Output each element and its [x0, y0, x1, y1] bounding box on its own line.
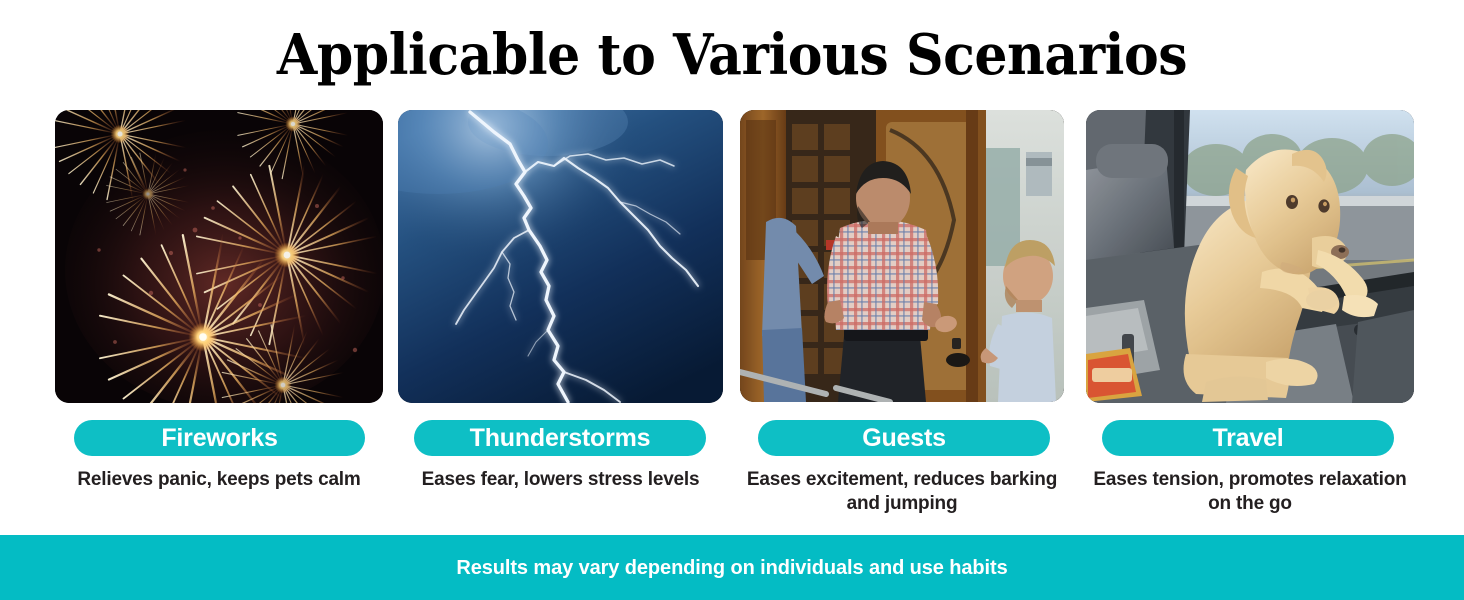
travel-photo	[1086, 110, 1414, 403]
guests-photo	[740, 110, 1064, 402]
label-pill-thunderstorms: Thunderstorms	[414, 420, 706, 456]
caption-fireworks: Relieves panic, keeps pets calm	[55, 468, 383, 492]
page-title: Applicable to Various Scenarios	[51, 24, 1413, 86]
scenario-card-travel	[1086, 110, 1414, 403]
scenario-card-fireworks	[55, 110, 383, 403]
label-text: Fireworks	[161, 426, 277, 451]
label-pill-travel: Travel	[1102, 420, 1394, 456]
label-text: Thunderstorms	[470, 426, 651, 451]
caption-thunderstorms: Eases fear, lowers stress levels	[398, 468, 723, 492]
scenario-card-thunderstorms	[398, 110, 723, 403]
scenarios-banner: Applicable to Various Scenarios	[0, 0, 1464, 600]
label-pill-fireworks: Fireworks	[74, 420, 365, 456]
scenario-card-row	[0, 110, 1464, 403]
disclaimer-text: Results may vary depending on individual…	[456, 558, 1007, 578]
label-pill-guests: Guests	[758, 420, 1050, 456]
label-text: Travel	[1212, 426, 1283, 451]
caption-guests: Eases excitement, reduces barking and ju…	[740, 468, 1064, 516]
disclaimer-banner: Results may vary depending on individual…	[0, 535, 1464, 600]
thunderstorm-photo	[398, 110, 723, 403]
caption-travel: Eases tension, promotes relaxation on th…	[1086, 468, 1414, 516]
scenario-card-guests	[740, 110, 1064, 402]
label-text: Guests	[862, 426, 946, 451]
fireworks-photo	[55, 110, 383, 403]
